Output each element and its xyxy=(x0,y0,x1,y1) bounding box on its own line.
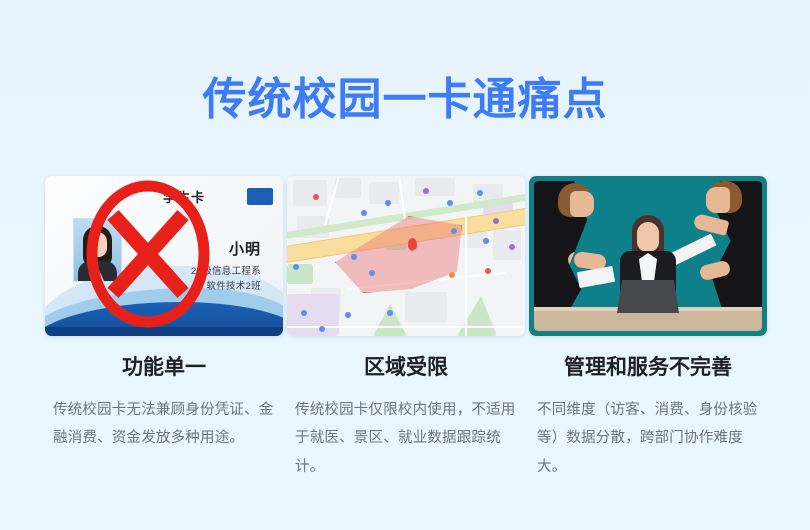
map-poi-marker[interactable] xyxy=(345,312,351,318)
page-title: 传统校园一卡通痛点 xyxy=(0,78,810,122)
pain-point-cards: 学生卡 小明 23级信息工程系 软件技术2班 xyxy=(45,176,767,481)
map-poi-marker[interactable] xyxy=(477,190,483,196)
card-heading-area: 区域受限 xyxy=(287,356,525,379)
map-block xyxy=(493,230,521,260)
worker-face xyxy=(637,222,659,252)
pain-point-card-functionality: 学生卡 小明 23级信息工程系 软件技术2班 xyxy=(45,176,283,481)
card-body-area: 传统校园卡仅限校内使用，不适用于就医、景区、就业数据跟踪统计。 xyxy=(287,396,525,481)
illustration-frame xyxy=(534,181,762,331)
map-pin-icon[interactable] xyxy=(408,238,417,250)
slide-root: 传统校园一卡通痛点 学生卡 小明 xyxy=(0,0,810,530)
colleague-left-face xyxy=(570,191,594,217)
map-poi-marker[interactable] xyxy=(301,310,307,316)
map-poi-marker[interactable] xyxy=(319,326,325,332)
card-heading-functionality: 功能单一 xyxy=(45,356,283,379)
map-poi-marker[interactable] xyxy=(493,218,499,224)
map-block xyxy=(335,178,361,198)
campus-map-graphic xyxy=(287,176,525,336)
map-poi-marker[interactable] xyxy=(387,310,393,316)
card-body-functionality: 传统校园卡无法兼顾身份凭证、金融消费、资金发放多种用途。 xyxy=(45,396,283,453)
desk xyxy=(534,311,762,331)
map-green-area xyxy=(373,304,407,336)
laptop xyxy=(617,280,679,313)
map-green-area xyxy=(287,264,313,284)
map-green-area xyxy=(457,296,497,336)
student-class: 软件技术2班 xyxy=(206,278,261,292)
map-poi-marker[interactable] xyxy=(447,200,453,206)
map-poi-marker[interactable] xyxy=(351,254,357,260)
map-poi-marker[interactable] xyxy=(293,264,299,270)
map-poi-marker[interactable] xyxy=(369,270,375,276)
map-block xyxy=(293,180,327,206)
map-block xyxy=(415,178,455,196)
map-poi-marker[interactable] xyxy=(483,238,489,244)
map-poi-marker[interactable] xyxy=(423,188,429,194)
office-overload-graphic xyxy=(529,176,767,336)
map-poi-marker[interactable] xyxy=(451,228,457,234)
map-block xyxy=(405,292,447,322)
map-thumbnail xyxy=(287,176,525,336)
card-blue-tab xyxy=(247,188,273,205)
map-poi-marker[interactable] xyxy=(509,244,515,250)
map-purple-area xyxy=(287,294,339,336)
colleague-right-face xyxy=(706,187,730,213)
card-body-management: 不同维度（访客、消费、身份核验等）数据分散，跨部门协作难度大。 xyxy=(529,396,767,481)
pain-point-card-area: 区域受限 传统校园卡仅限校内使用，不适用于就医、景区、就业数据跟踪统计。 xyxy=(287,176,525,481)
map-block xyxy=(369,182,399,204)
map-poi-marker[interactable] xyxy=(449,272,455,278)
card-heading-management: 管理和服务不完善 xyxy=(529,356,767,379)
pain-point-card-management: 管理和服务不完善 不同维度（访客、消费、身份核验等）数据分散，跨部门协作难度大。 xyxy=(529,176,767,481)
office-thumbnail xyxy=(529,176,767,336)
map-poi-marker[interactable] xyxy=(385,200,391,206)
student-name: 小明 xyxy=(229,238,261,259)
no-entry-cross-icon xyxy=(85,179,211,329)
student-card-thumbnail: 学生卡 小明 23级信息工程系 软件技术2班 xyxy=(45,176,283,336)
map-poi-marker[interactable] xyxy=(485,268,491,274)
map-poi-marker[interactable] xyxy=(361,210,367,216)
map-poi-marker[interactable] xyxy=(313,194,319,200)
